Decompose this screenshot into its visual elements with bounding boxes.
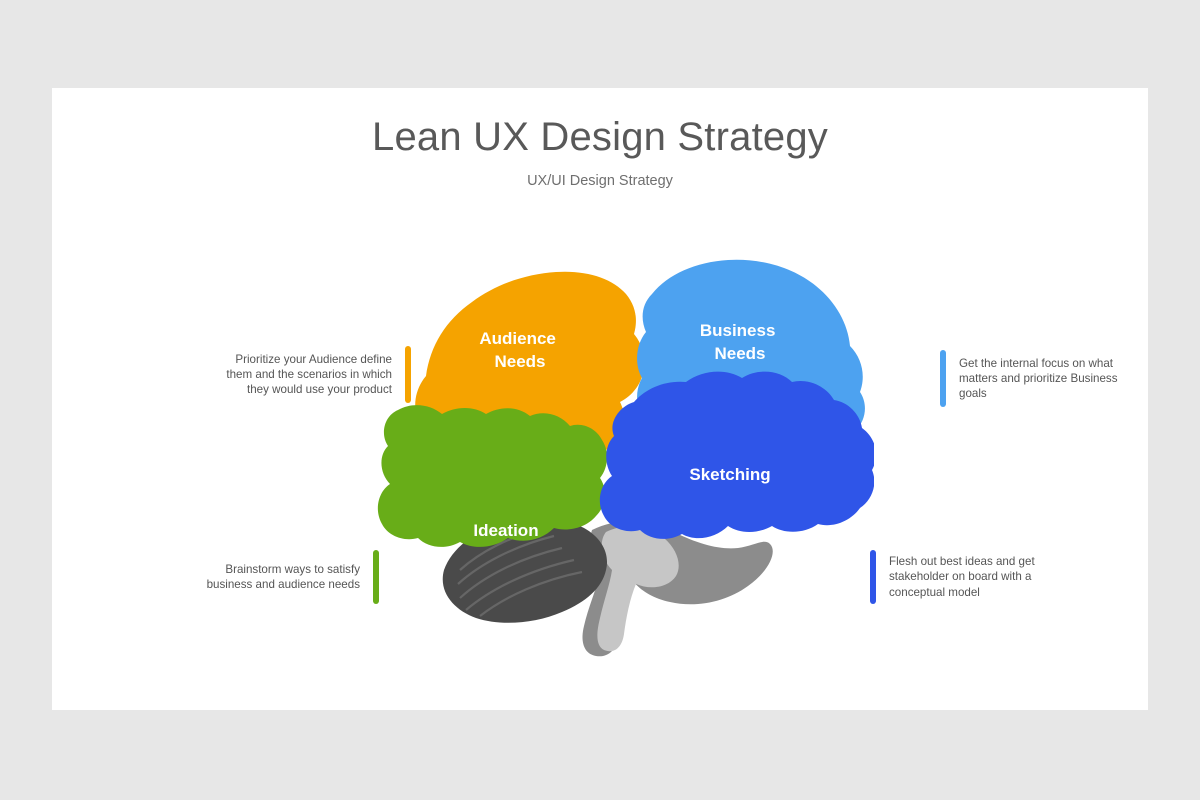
annotation-sketching: Flesh out best ideas and get stakeholder… [870,550,1069,604]
brainstem-group [583,521,773,656]
page-title: Lean UX Design Strategy [52,115,1148,160]
label-sketching: Sketching [689,465,770,484]
label-ideation: Ideation [473,521,538,540]
annotation-audience-bar [405,346,411,403]
label-business-line1: Business [700,321,776,340]
annotation-ideation-text: Brainstorm ways to satisfy business and … [192,562,360,592]
annotation-ideation-bar [373,550,379,604]
annotation-sketching-text: Flesh out best ideas and get stakeholder… [889,554,1069,600]
label-audience-line1: Audience [479,329,556,348]
annotation-business-text: Get the internal focus on what matters a… [959,356,1144,402]
annotation-ideation: Brainstorm ways to satisfy business and … [192,550,379,604]
annotation-business-bar [940,350,946,407]
label-audience-line2: Needs [494,352,545,371]
annotation-sketching-bar [870,550,876,604]
label-business-line2: Needs [714,344,765,363]
slide-card: Lean UX Design Strategy UX/UI Design Str… [52,88,1148,710]
brain-diagram: Audience Needs Business Needs Sketching … [334,198,874,658]
annotation-business-needs: Get the internal focus on what matters a… [940,350,1144,407]
annotation-audience-needs: Prioritize your Audience define them and… [212,346,411,403]
annotation-audience-text: Prioritize your Audience define them and… [212,352,392,398]
page-subtitle: UX/UI Design Strategy [52,173,1148,189]
